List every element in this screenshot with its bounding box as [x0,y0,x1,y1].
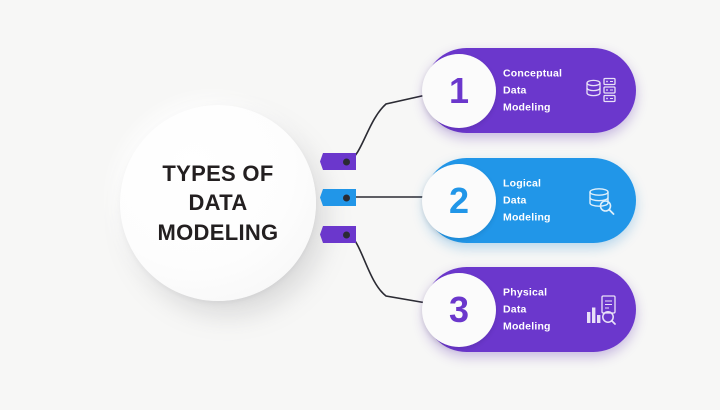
item-badge-1: 1 [422,54,496,128]
page-title: TYPES OF DATA MODELING [158,159,279,246]
tag-tab-3[interactable] [320,225,356,244]
item-badge-2: 2 [422,164,496,238]
infographic-canvas: TYPES OF DATA MODELING 1 Conceptual Data… [0,0,720,410]
item-row-physical[interactable]: 3 Physical Data Modeling [424,267,636,352]
tag-tab-2[interactable] [320,188,356,207]
tag-tab-dot-1 [343,158,350,165]
item-number-1: 1 [449,73,469,109]
tag-tab-dot-3 [343,231,350,238]
tag-tab-1[interactable] [320,152,356,171]
center-circle: TYPES OF DATA MODELING [120,105,316,301]
bar-chart-analytics-icon [584,293,618,327]
item-row-conceptual[interactable]: 1 Conceptual Data Modeling [424,48,636,133]
database-search-icon [584,184,618,218]
item-label-3: Physical Data Modeling [503,284,551,335]
tag-tab-dot-2 [343,194,350,201]
item-row-logical[interactable]: 2 Logical Data Modeling [424,158,636,243]
item-label-1: Conceptual Data Modeling [503,65,562,116]
item-label-2: Logical Data Modeling [503,175,551,226]
item-number-2: 2 [449,183,469,219]
item-number-3: 3 [449,292,469,328]
item-badge-3: 3 [422,273,496,347]
database-server-icon [584,74,618,108]
